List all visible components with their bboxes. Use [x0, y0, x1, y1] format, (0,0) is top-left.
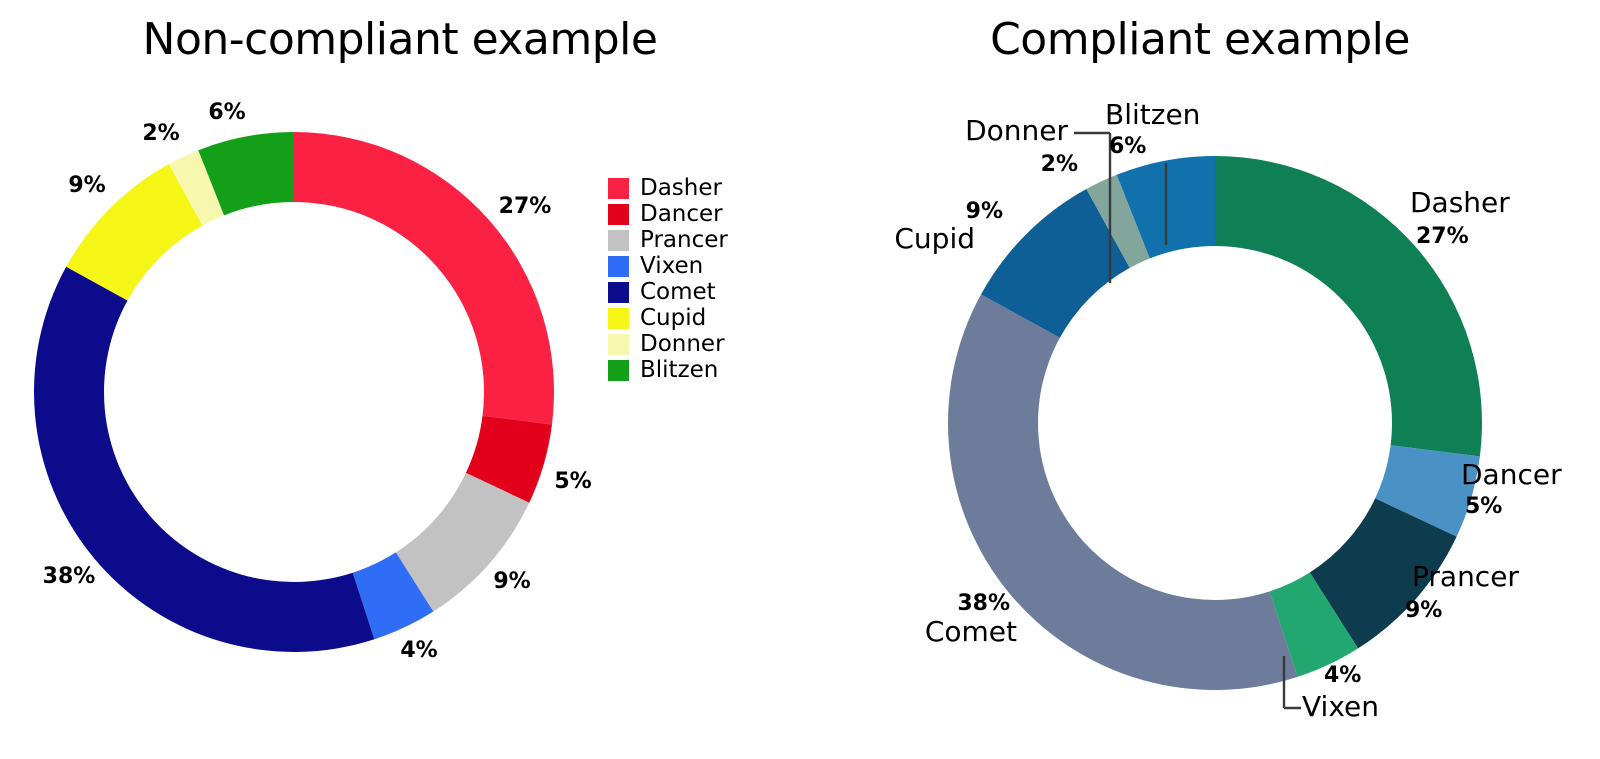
legend-item-prancer[interactable]: Prancer — [608, 227, 728, 253]
legend-label: Donner — [640, 333, 725, 356]
legend-label: Dasher — [640, 177, 722, 200]
legend-item-vixen[interactable]: Vixen — [608, 253, 728, 279]
data-label-pct-donner: 2% — [1041, 152, 1078, 177]
legend-swatch-icon-dasher — [608, 178, 629, 199]
data-label-pct-vixen: 4% — [1324, 663, 1361, 688]
legend-swatch-icon-dancer — [608, 204, 629, 225]
legend-label: Vixen — [640, 255, 703, 278]
data-label-pct-vixen: 4% — [400, 638, 437, 663]
data-label-pct-blitzen: 6% — [1109, 134, 1146, 159]
data-label-name-dancer: Dancer — [1461, 458, 1562, 491]
legend-swatch-icon-prancer — [608, 230, 629, 251]
legend-item-dasher[interactable]: Dasher — [608, 175, 728, 201]
data-label-pct-prancer: 9% — [1405, 598, 1442, 623]
legend-swatch-icon-comet — [608, 282, 629, 303]
data-label-pct-dasher: 27% — [1416, 224, 1469, 249]
legend-label: Dancer — [640, 203, 723, 226]
data-label-pct-comet: 38% — [43, 564, 96, 589]
panel-non-compliant: Non-compliant example 27%5%9%4%38%9%2%6%… — [0, 0, 800, 759]
data-label-pct-dasher: 27% — [499, 194, 552, 219]
donut-chart-compliant: Dasher27%Dancer5%Prancer9%Vixen4%Comet38… — [800, 0, 1600, 759]
legend-swatch-icon-blitzen — [608, 360, 629, 381]
data-label-name-cupid: Cupid — [894, 222, 975, 255]
data-label-pct-blitzen: 6% — [208, 100, 245, 125]
legend-label: Blitzen — [640, 359, 718, 382]
data-label-name-dasher: Dasher — [1410, 186, 1510, 219]
data-label-pct-cupid: 9% — [68, 173, 105, 198]
legend-item-cupid[interactable]: Cupid — [608, 305, 728, 331]
panel-compliant: Compliant example Dasher27%Dancer5%Pranc… — [800, 0, 1600, 759]
slice-group-compliant — [948, 156, 1482, 690]
donut-slice-dasher[interactable] — [294, 132, 554, 425]
chart-legend: DasherDancerPrancerVixenCometCupidDonner… — [608, 175, 728, 383]
legend-label: Cupid — [640, 307, 706, 330]
data-label-pct-donner: 2% — [142, 121, 179, 146]
legend-label: Prancer — [640, 229, 728, 252]
legend-item-dancer[interactable]: Dancer — [608, 201, 728, 227]
data-label-pct-comet: 38% — [957, 591, 1010, 616]
data-label-name-comet: Comet — [925, 615, 1017, 648]
legend-item-donner[interactable]: Donner — [608, 331, 728, 357]
data-label-name-donner: Donner — [965, 114, 1068, 147]
donut-slice-comet[interactable] — [34, 267, 374, 652]
data-label-name-blitzen: Blitzen — [1105, 98, 1200, 131]
data-label-name-vixen: Vixen — [1302, 690, 1379, 723]
data-label-pct-dancer: 5% — [1465, 494, 1502, 519]
legend-label: Comet — [640, 281, 716, 304]
donut-chart-comparison-figure: Non-compliant example 27%5%9%4%38%9%2%6%… — [0, 0, 1600, 759]
legend-swatch-icon-cupid — [608, 308, 629, 329]
legend-item-comet[interactable]: Comet — [608, 279, 728, 305]
slice-group-non-compliant — [34, 132, 554, 652]
legend-item-blitzen[interactable]: Blitzen — [608, 357, 728, 383]
legend-swatch-icon-vixen — [608, 256, 629, 277]
data-label-pct-prancer: 9% — [493, 569, 530, 594]
legend-swatch-icon-donner — [608, 334, 629, 355]
data-label-pct-dancer: 5% — [554, 469, 591, 494]
data-label-name-prancer: Prancer — [1412, 560, 1519, 593]
data-label-pct-cupid: 9% — [966, 199, 1003, 224]
